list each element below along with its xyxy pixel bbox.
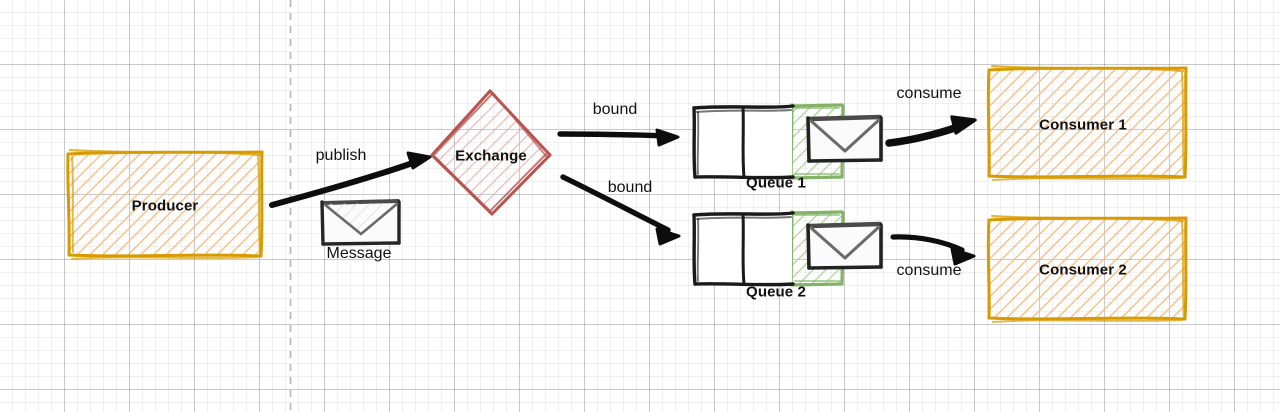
edge-publish: [272, 153, 430, 205]
node-exchange[interactable]: [432, 91, 550, 214]
diagram-canvas: Producer Message Exchange Queue 1 Queue …: [0, 0, 1280, 412]
message-envelope-icon: [322, 201, 399, 244]
edge-consume-2: [893, 237, 974, 264]
node-consumer1[interactable]: [988, 66, 1186, 180]
node-queue2[interactable]: [694, 212, 881, 285]
node-producer[interactable]: [68, 150, 262, 259]
node-consumer2[interactable]: [988, 216, 1186, 322]
node-queue1[interactable]: [694, 105, 881, 178]
edge-consume-1: [889, 117, 975, 143]
edge-bound-1: [560, 130, 678, 145]
diagram-vector-layer: [0, 0, 1280, 412]
edge-bound-2: [563, 177, 679, 244]
